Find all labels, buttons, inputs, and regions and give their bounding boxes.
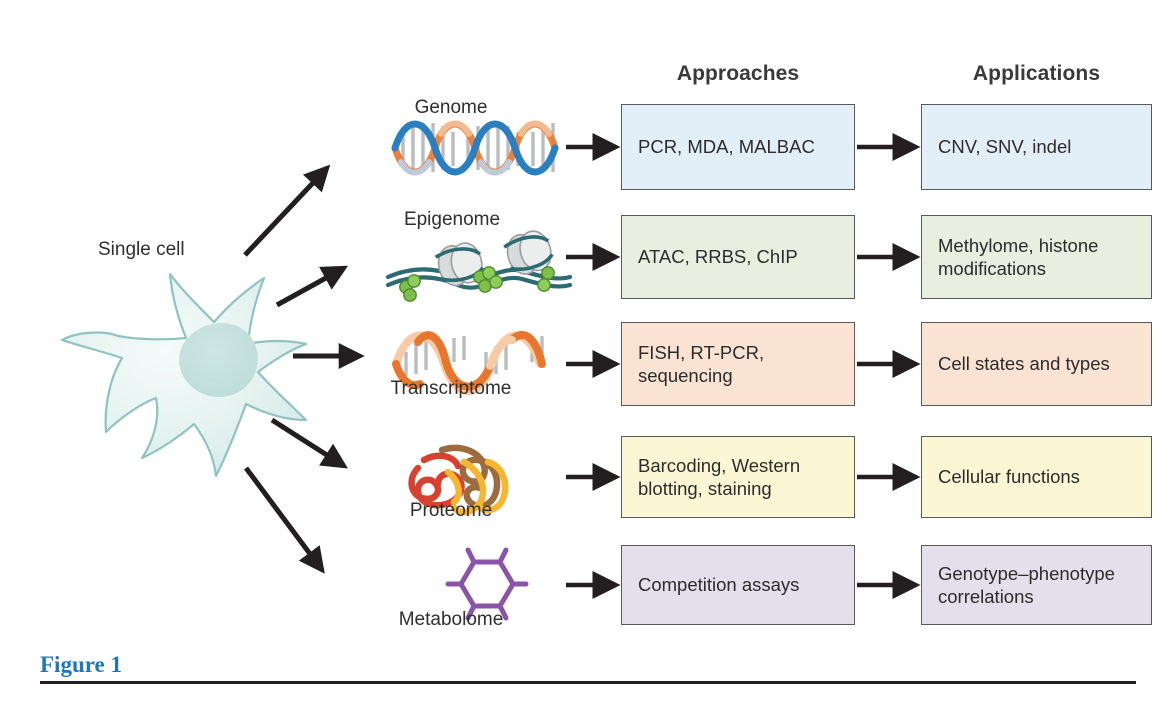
caption-divider-rule — [40, 681, 1136, 684]
approach-text-proteome: Barcoding, Western blotting, staining — [638, 454, 800, 501]
nucleosome-chromatin-icon — [388, 227, 570, 301]
fan-arrow-proteome — [272, 420, 344, 466]
benzene-hexagon-icon — [448, 550, 526, 618]
application-text-proteome: Cellular functions — [938, 465, 1080, 488]
application-text-genome: CNV, SNV, indel — [938, 135, 1071, 158]
approach-box-proteome: Barcoding, Western blotting, staining — [621, 436, 855, 518]
approach-text-metabolome: Competition assays — [638, 573, 799, 596]
figure-caption-label: Figure 1 — [40, 652, 122, 678]
omics-label-metabolome: Metabolome — [348, 609, 554, 631]
approach-box-metabolome: Competition assays — [621, 545, 855, 625]
omics-label-transcriptome: Transcriptome — [346, 378, 556, 400]
application-box-transcriptome: Cell states and types — [921, 322, 1152, 406]
approach-box-epigenome: ATAC, RRBS, ChIP — [621, 215, 855, 299]
omics-label-genome: Genome — [356, 97, 546, 119]
figure-canvas: Approaches Applications — [0, 0, 1172, 703]
application-box-epigenome: Methylome, histone modifications — [921, 215, 1152, 299]
dna-double-helix-icon — [395, 123, 555, 173]
fan-arrow-epigenome — [277, 268, 344, 305]
application-text-metabolome: Genotype–phenotype correlations — [938, 562, 1115, 609]
application-box-genome: CNV, SNV, indel — [921, 104, 1152, 190]
application-text-epigenome: Methylome, histone modifications — [938, 234, 1098, 281]
omics-label-epigenome: Epigenome — [352, 209, 552, 231]
column-header-applications: Applications — [921, 62, 1152, 86]
omics-label-proteome: Proteome — [356, 500, 546, 522]
fan-arrow-metabolome — [246, 468, 322, 570]
approach-text-genome: PCR, MDA, MALBAC — [638, 135, 815, 158]
column-header-approaches: Approaches — [621, 62, 855, 86]
methyl-marks — [400, 267, 554, 301]
approach-box-genome: PCR, MDA, MALBAC — [621, 104, 855, 190]
approach-text-transcriptome: FISH, RT-PCR, sequencing — [638, 341, 764, 388]
approach-text-epigenome: ATAC, RRBS, ChIP — [638, 245, 798, 268]
application-text-transcriptome: Cell states and types — [938, 352, 1110, 375]
fan-arrow-genome — [245, 168, 327, 255]
application-box-proteome: Cellular functions — [921, 436, 1152, 518]
application-box-metabolome: Genotype–phenotype correlations — [921, 545, 1152, 625]
approach-box-transcriptome: FISH, RT-PCR, sequencing — [621, 322, 855, 406]
single-cell-label: Single cell — [98, 239, 185, 261]
